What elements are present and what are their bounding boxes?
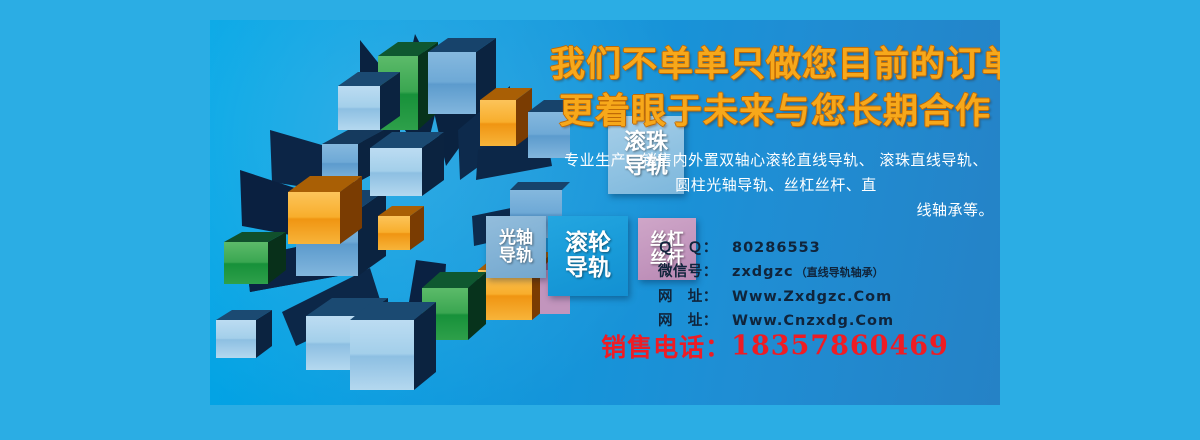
cube-orange-right	[480, 88, 532, 146]
blurb: 专业生产、销售内外置双轴心滚轮直线导轨、 滚珠直线导轨、圆柱光轴导轨、丝杠丝杆、…	[558, 148, 994, 223]
blurb-line3: 线轴承等。	[558, 198, 994, 223]
sales-phone-label: 销售电话：	[601, 333, 731, 362]
cube-orange-small	[378, 206, 424, 250]
contact-value-website-1[interactable]: Www.Zxdgzc.Com	[732, 285, 892, 309]
banner-page: 滚珠 导轨 光轴 导轨 滚轮 导轨 丝杠 丝杆	[0, 0, 1200, 440]
contact-row-qq: Ｑ Ｑ： 80286553	[658, 236, 1000, 260]
cube-cluster-artwork: 滚珠 导轨 光轴 导轨 滚轮 导轨 丝杠 丝杆	[210, 20, 570, 405]
cube-orange-upper	[288, 176, 362, 244]
promo-banner: 滚珠 导轨 光轴 导轨 滚轮 导轨 丝杠 丝杆	[210, 20, 1000, 405]
headline-line1: 我们不单单只做您目前的订单	[550, 42, 1000, 89]
contact-label-qq: Ｑ Ｑ：	[658, 236, 732, 260]
cube-far-left-bottom	[216, 310, 272, 358]
cube-center-mid	[370, 132, 444, 196]
cube-upper-mid	[338, 72, 400, 130]
cube-bottom-center	[350, 302, 436, 390]
sales-phone: 销售电话：18357860469	[550, 328, 1000, 364]
copy-column: 我们不单单只做您目前的订单 更着眼于未来与您长期合作 专业生产、销售内外置双轴心…	[550, 20, 1000, 405]
contact-label-website-1: 网 址：	[658, 285, 732, 309]
contact-row-wechat: 微信号： zxdgzc （直线导轨轴承）	[658, 260, 1000, 285]
contact-value-qq[interactable]: 80286553	[732, 236, 821, 260]
chip-guangzhou-line2: 导轨	[499, 247, 533, 265]
cube-green-left	[224, 232, 286, 284]
sales-phone-number[interactable]: 18357860469	[731, 331, 949, 362]
headline-line2: 更着眼于未来与您长期合作	[550, 89, 1000, 136]
headline: 我们不单单只做您目前的订单 更着眼于未来与您长期合作	[550, 42, 1000, 136]
contact-value-wechat[interactable]: zxdgzc	[732, 260, 794, 284]
chip-guangzhou-daogui[interactable]: 光轴 导轨	[486, 216, 546, 278]
contact-note-wechat: （直线导轨轴承）	[796, 261, 884, 285]
cube-cluster-svg	[210, 20, 570, 405]
contact-row-website-1: 网 址： Www.Zxdgzc.Com	[658, 285, 1000, 309]
blurb-line1: 专业生产、销售内外置双轴心滚轮直线导轨、	[564, 151, 874, 169]
contact-label-wechat: 微信号：	[658, 260, 732, 284]
chip-guangzhou-line1: 光轴	[499, 229, 533, 247]
contact-block: Ｑ Ｑ： 80286553 微信号： zxdgzc （直线导轨轴承） 网 址： …	[658, 236, 1000, 333]
